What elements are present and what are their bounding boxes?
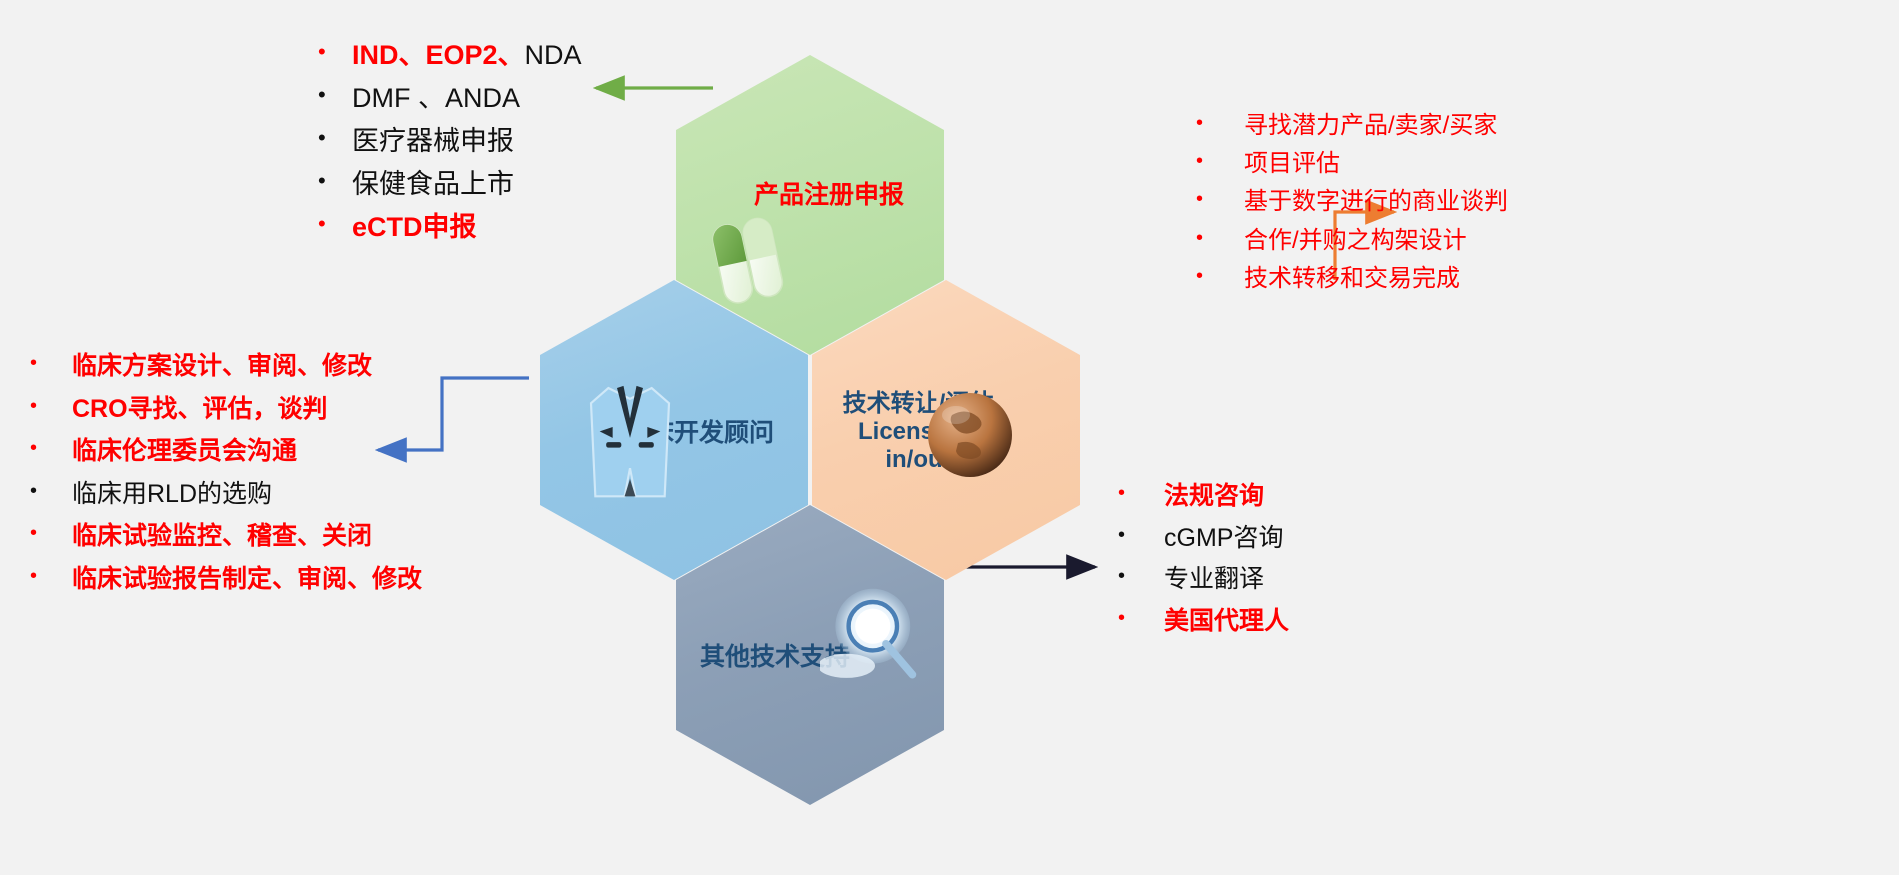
hexagon-cluster: 产品注册申报 临床开发顾问 技术转让/评估 Licensing- in/out … — [520, 55, 1100, 655]
bullet-icon: • — [1118, 563, 1164, 589]
capsule-pill-icon — [696, 205, 806, 315]
list-item: • 临床试验报告制定、审阅、修改 — [30, 563, 422, 596]
bullet-icon: • — [1118, 480, 1164, 506]
list-item-label: 技术转移和交易完成 — [1244, 263, 1508, 294]
list-item: • 法规咨询 — [1118, 480, 1289, 513]
bullet-icon: • — [1196, 110, 1244, 136]
list-item-label: 保健食品上市 — [352, 167, 582, 202]
list-item-label: 基于数字进行的商业谈判 — [1244, 186, 1508, 217]
list-item: • 基于数字进行的商业谈判 — [1196, 186, 1508, 217]
list-item: • 保健食品上市 — [318, 167, 582, 202]
bullet-icon: • — [30, 435, 72, 461]
desk-lamp-icon — [820, 580, 930, 690]
bullet-icon: • — [30, 350, 72, 376]
list-item: • 项目评估 — [1196, 148, 1508, 179]
suit-jacket-icon — [575, 375, 685, 505]
bullet-icon: • — [1196, 225, 1244, 251]
list-item-label: 临床试验报告制定、审阅、修改 — [72, 563, 422, 596]
list-item: • 临床伦理委员会沟通 — [30, 435, 422, 468]
list-item-label: 临床用RLD的选购 — [72, 478, 422, 511]
list-licensing: • 寻找潜力产品/卖家/买家 • 项目评估 • 基于数字进行的商业谈判 • 合作… — [1196, 110, 1508, 301]
bullet-icon: • — [1118, 605, 1164, 631]
list-clinical-development: • 临床方案设计、审阅、修改 • CRO寻找、评估，谈判 • 临床伦理委员会沟通… — [30, 350, 422, 605]
list-item-label: 项目评估 — [1244, 148, 1508, 179]
bullet-icon: • — [1118, 522, 1164, 548]
list-item: • 专业翻译 — [1118, 563, 1289, 596]
list-item-label: 临床试验监控、稽查、关闭 — [72, 520, 422, 553]
list-item: • 临床试验监控、稽查、关闭 — [30, 520, 422, 553]
list-item-label: CRO寻找、评估，谈判 — [72, 393, 422, 426]
list-item-label: cGMP咨询 — [1164, 522, 1289, 555]
list-item-label: 医疗器械申报 — [352, 124, 582, 159]
list-other-tech-support: • 法规咨询 • cGMP咨询 • 专业翻译 • 美国代理人 — [1118, 480, 1289, 646]
list-item-label: 专业翻译 — [1164, 563, 1289, 596]
bullet-icon: • — [318, 38, 352, 67]
list-item-label: 美国代理人 — [1164, 605, 1289, 638]
list-item: • 临床方案设计、审阅、修改 — [30, 350, 422, 383]
list-item: • 临床用RLD的选购 — [30, 478, 422, 511]
list-item-label: DMF 、ANDA — [352, 81, 582, 116]
list-item: • 寻找潜力产品/卖家/买家 — [1196, 110, 1508, 141]
list-item-label: 寻找潜力产品/卖家/买家 — [1244, 110, 1508, 141]
bullet-icon: • — [1196, 263, 1244, 289]
bullet-icon: • — [318, 167, 352, 196]
list-item: • 美国代理人 — [1118, 605, 1289, 638]
list-item: • 合作/并购之构架设计 — [1196, 225, 1508, 256]
list-item: • CRO寻找、评估，谈判 — [30, 393, 422, 426]
list-item: • 技术转移和交易完成 — [1196, 263, 1508, 294]
bullet-icon: • — [318, 124, 352, 153]
list-item: • 医疗器械申报 — [318, 124, 582, 159]
globe-icon — [920, 385, 1020, 485]
list-item-label: 合作/并购之构架设计 — [1244, 225, 1508, 256]
bullet-icon: • — [1196, 148, 1244, 174]
bullet-icon: • — [30, 393, 72, 419]
bullet-icon: • — [30, 563, 72, 589]
list-item-label: 法规咨询 — [1164, 480, 1289, 513]
bullet-icon: • — [30, 478, 72, 504]
list-item: • DMF 、ANDA — [318, 81, 582, 116]
list-item-label: NDA — [525, 40, 582, 70]
list-item: • eCTD申报 — [318, 210, 582, 245]
list-item-label-strong: IND、EOP2、 — [352, 40, 525, 70]
list-item-label: eCTD申报 — [352, 210, 582, 245]
bullet-icon: • — [1196, 186, 1244, 212]
list-item-label: 临床伦理委员会沟通 — [72, 435, 422, 468]
bullet-icon: • — [318, 210, 352, 239]
bullet-icon: • — [318, 81, 352, 110]
list-product-registration: • IND、EOP2、NDA • DMF 、ANDA • 医疗器械申报 • 保健… — [318, 38, 582, 253]
diagram-canvas: 产品注册申报 临床开发顾问 技术转让/评估 Licensing- in/out … — [0, 0, 1899, 875]
list-item: • cGMP咨询 — [1118, 522, 1289, 555]
list-item-label: 临床方案设计、审阅、修改 — [72, 350, 422, 383]
bullet-icon: • — [30, 520, 72, 546]
list-item: • IND、EOP2、NDA — [318, 38, 582, 73]
